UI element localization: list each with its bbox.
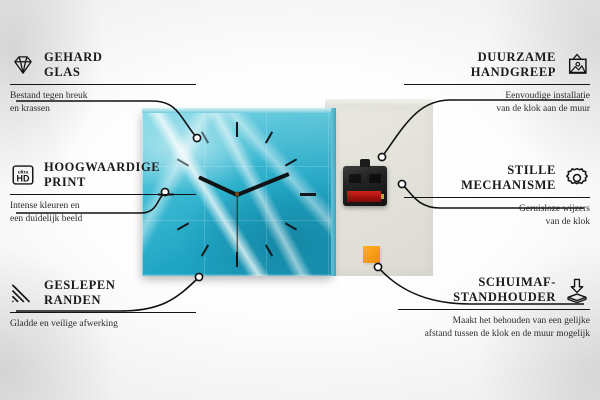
feature-subtitle: Gladde en veilige afwerking bbox=[10, 318, 196, 331]
feature-gehard-glas: GEHARD GLAS Bestand tegen breuk en krass… bbox=[10, 50, 196, 115]
clock-tick-12 bbox=[236, 122, 238, 137]
feature-divider bbox=[404, 84, 590, 86]
feature-hoogwaardige-print: ultra HD HOOGWAARDIGE PRINT Intense kleu… bbox=[10, 160, 196, 225]
foam-spacer-pad bbox=[363, 246, 380, 263]
mechanism-slot-left bbox=[349, 174, 361, 183]
glass-right-edge bbox=[331, 108, 336, 276]
mechanism-battery bbox=[347, 191, 381, 202]
diamond-icon bbox=[10, 52, 36, 78]
gear-icon bbox=[564, 165, 590, 191]
feature-title: HOOGWAARDIGE PRINT bbox=[44, 160, 160, 190]
ultra-hd-icon: ultra HD bbox=[10, 162, 36, 188]
feature-divider bbox=[10, 194, 196, 196]
feature-subtitle: Geruisloze wijzers van de klok bbox=[404, 203, 590, 228]
feature-subtitle: Bestand tegen breuk en krassen bbox=[10, 90, 196, 115]
clock-center-pin bbox=[235, 192, 239, 196]
feature-divider bbox=[10, 312, 196, 314]
feature-title: STILLE MECHANISME bbox=[461, 163, 556, 193]
clock-mechanism bbox=[343, 166, 387, 206]
feature-subtitle: Eenvoudige installatie van de klok aan d… bbox=[404, 90, 590, 115]
feature-geslepen-randen: GESLEPEN RANDEN Gladde en veilige afwerk… bbox=[10, 278, 196, 331]
foam-spacer-icon bbox=[564, 277, 590, 303]
feature-divider bbox=[10, 84, 196, 86]
feature-title: SCHUIMAF- STANDHOUDER bbox=[453, 275, 556, 305]
feature-divider bbox=[398, 309, 590, 311]
clock-tick-6 bbox=[236, 252, 238, 267]
beveled-edges-icon bbox=[10, 280, 36, 306]
clock-second-hand bbox=[236, 195, 237, 253]
clock-tick-3 bbox=[300, 193, 316, 196]
mechanism-slot-right bbox=[369, 174, 381, 183]
feature-duurzame-handgreep: DUURZAME HANDGREEP Eenvoudige installati… bbox=[404, 50, 590, 115]
feature-subtitle: Intense kleuren en een duidelijk beeld bbox=[10, 200, 196, 225]
picture-hanger-icon bbox=[564, 52, 590, 78]
feature-title: GEHARD GLAS bbox=[44, 50, 102, 80]
feature-subtitle: Maakt het behouden van een gelijke afsta… bbox=[398, 315, 590, 340]
feature-schuimafstandhouder: SCHUIMAF- STANDHOUDER Maakt het behouden… bbox=[398, 275, 590, 340]
feature-stille-mechanisme: STILLE MECHANISME Geruisloze wijzers van… bbox=[404, 163, 590, 228]
infographic-canvas: GEHARD GLAS Bestand tegen breuk en krass… bbox=[0, 0, 600, 400]
feature-title: GESLEPEN RANDEN bbox=[44, 278, 116, 308]
feature-title: DUURZAME HANDGREEP bbox=[471, 50, 556, 80]
feature-divider bbox=[404, 197, 590, 199]
mechanism-shaft bbox=[360, 159, 370, 167]
svg-text:HD: HD bbox=[17, 173, 30, 183]
